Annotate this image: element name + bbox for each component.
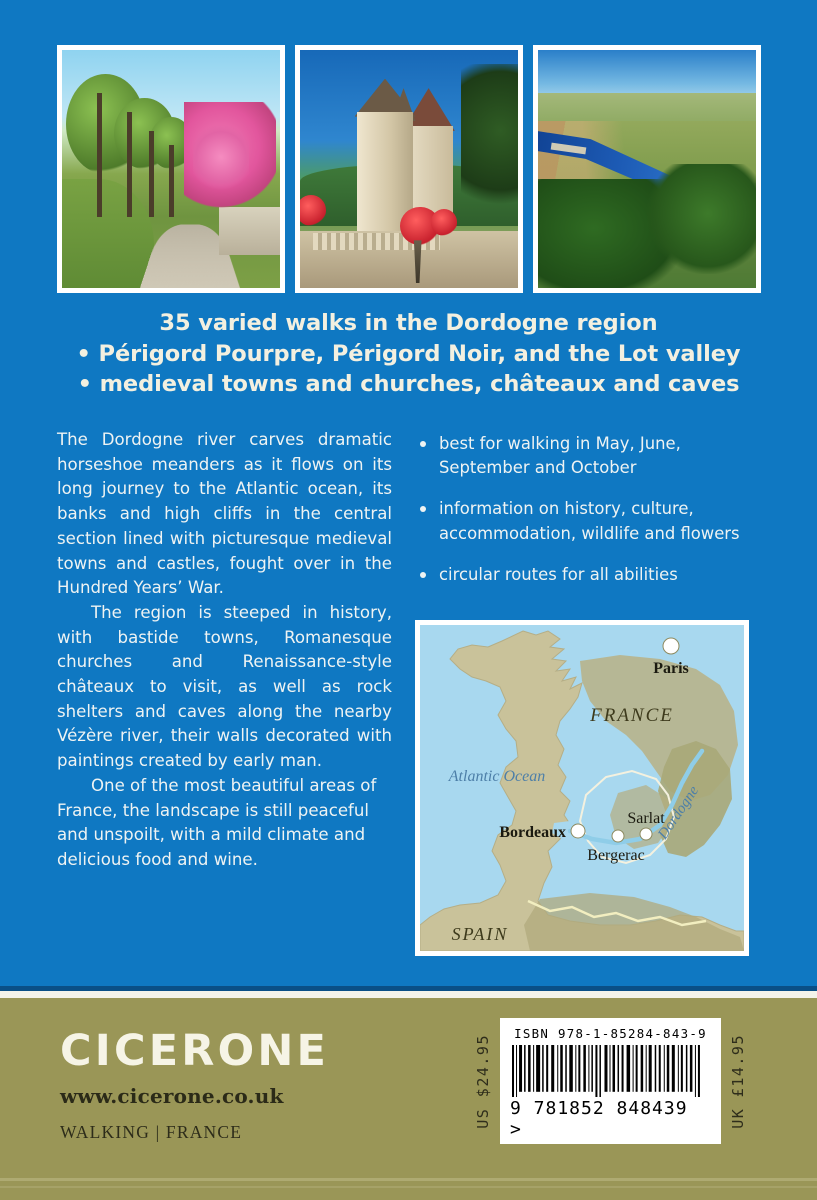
price-us: US $24.95: [468, 1018, 498, 1144]
tree-trunk: [169, 145, 174, 216]
photo-strip: [57, 45, 761, 293]
map-label-spain: SPAIN: [452, 924, 509, 944]
location-map: Paris FRANCE Atlantic Ocean Bordeaux Ber…: [415, 620, 749, 956]
features-column: best for walking in May, June, September…: [417, 432, 747, 604]
pink-blossom-tree: [193, 121, 250, 192]
barcode-block: US $24.95 ISBN 978-1-85284-843-9: [468, 1018, 753, 1144]
feature-item: best for walking in May, June, September…: [417, 432, 747, 480]
price-uk: UK £14.95: [723, 1018, 753, 1144]
map-label-paris: Paris: [653, 660, 689, 677]
photo-image-3: [538, 50, 756, 288]
photo-chateau-with-towers: [295, 45, 523, 293]
publisher-block: CICERONE www.cicerone.co.uk WALKING | FR…: [60, 1028, 390, 1143]
map-label-france: FRANCE: [589, 705, 674, 726]
isbn-label: ISBN 978-1-85284-843-9: [514, 1026, 707, 1041]
map-label-bordeaux: Bordeaux: [499, 824, 566, 841]
divider-cream: [0, 991, 817, 998]
map-label-bergerac: Bergerac: [587, 847, 644, 864]
tree-trunk: [149, 131, 154, 217]
map-label-atlantic-ocean: Atlantic Ocean: [448, 768, 545, 785]
grass-area: [62, 179, 154, 288]
description-paragraph-3: One of the most beautiful areas of Franc…: [57, 774, 392, 873]
book-back-cover: 35 varied walks in the Dordogne region •…: [0, 0, 817, 1200]
photo-image-1: [62, 50, 280, 288]
map-city-dot-paris: [663, 638, 679, 654]
map-label-sarlat: Sarlat: [627, 810, 665, 827]
cicerone-logo: CICERONE: [60, 1028, 390, 1074]
price-uk-label: UK £14.95: [729, 1034, 747, 1129]
price-us-label: US $24.95: [474, 1034, 492, 1129]
footer-hairline: [0, 1178, 817, 1181]
geranium-flowers: [431, 209, 457, 235]
feature-item: information on history, culture, accommo…: [417, 497, 747, 545]
footer-hairline: [0, 1186, 817, 1188]
publisher-website[interactable]: www.cicerone.co.uk: [60, 1084, 390, 1108]
cover-headline: 35 varied walks in the Dordogne region •…: [40, 308, 777, 400]
barcode-digits: 9 781852 848439 >: [510, 1098, 711, 1140]
map-city-dot-bergerac: [612, 830, 624, 842]
photo-image-2: [300, 50, 518, 288]
dark-tree: [461, 64, 518, 231]
map-city-dot-bordeaux: [571, 824, 585, 838]
map-svg: Paris FRANCE Atlantic Ocean Bordeaux Ber…: [420, 625, 744, 951]
headline-line-2: • Périgord Pourpre, Périgord Noir, and t…: [40, 339, 777, 370]
map-canvas: Paris FRANCE Atlantic Ocean Bordeaux Ber…: [420, 625, 744, 951]
map-city-dot-sarlat: [640, 828, 652, 840]
photo-tree-lined-lane-with-blossom: [57, 45, 285, 293]
headline-line-1: 35 varied walks in the Dordogne region: [40, 308, 777, 339]
headline-line-3: • medieval towns and churches, châteaux …: [40, 369, 777, 400]
feature-item: circular routes for all abilities: [417, 563, 747, 587]
description-paragraph-1: The Dordogne river carves dramatic horse…: [57, 428, 392, 601]
features-list: best for walking in May, June, September…: [417, 432, 747, 587]
stone-wall: [219, 207, 280, 255]
barcode-bars: [510, 1045, 711, 1097]
barcode-card: ISBN 978-1-85284-843-9: [500, 1018, 721, 1144]
tree-trunk: [127, 112, 132, 217]
woodland: [647, 164, 756, 273]
photo-dordogne-river-valley: [533, 45, 761, 293]
description-paragraph-2: The region is steeped in history, with b…: [57, 601, 392, 774]
description-column: The Dordogne river carves dramatic horse…: [57, 428, 392, 873]
tree-trunk: [97, 93, 102, 217]
publisher-category: WALKING | FRANCE: [60, 1122, 390, 1143]
